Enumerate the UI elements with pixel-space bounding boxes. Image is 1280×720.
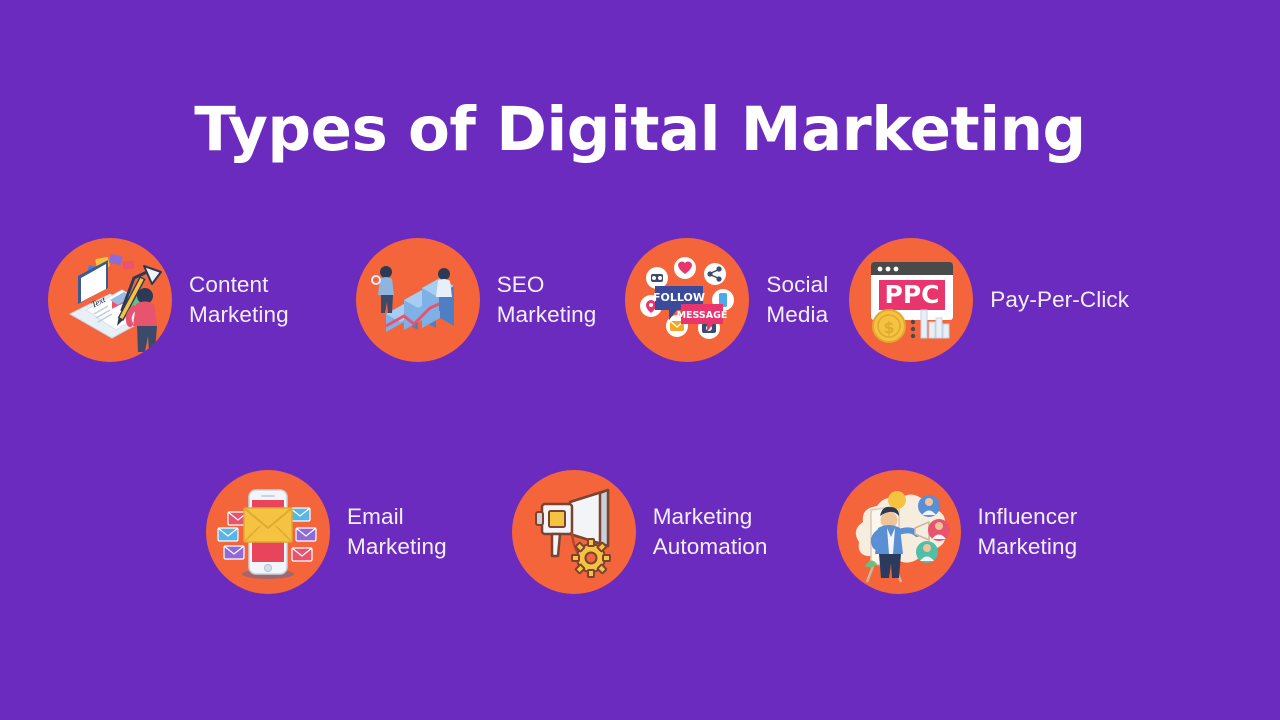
category-label-marketing-automation: Marketing Automation xyxy=(653,502,768,563)
category-label-influencer-marketing: Influencer Marketing xyxy=(978,502,1078,563)
category-item-pay-per-click[interactable]: PPC $ Pay-Per-Click xyxy=(849,238,1129,362)
category-item-marketing-automation[interactable]: Marketing Automation xyxy=(512,470,768,594)
content-marketing-icon: Text xyxy=(48,238,172,362)
email-marketing-icon xyxy=(206,470,330,594)
social-follow-text: FOLLOW xyxy=(653,291,705,304)
marketing-automation-icon xyxy=(512,470,636,594)
category-row-1: Text xyxy=(48,238,1129,362)
category-item-seo-marketing[interactable]: SEO Marketing xyxy=(356,238,597,362)
pay-per-click-icon: PPC $ xyxy=(849,238,973,362)
category-item-content-marketing[interactable]: Text xyxy=(48,238,289,362)
category-label-social-media: Social Media xyxy=(766,270,828,331)
social-message-text: MESSAGE xyxy=(677,310,728,321)
seo-marketing-icon xyxy=(356,238,480,362)
category-label-email-marketing: Email Marketing xyxy=(347,502,447,563)
category-item-social-media[interactable]: FOLLOW MESSAGE Social Media xyxy=(625,238,828,362)
category-item-influencer-marketing[interactable]: Influencer Marketing xyxy=(837,470,1078,594)
category-row-2: Email Marketing xyxy=(206,470,1077,594)
ppc-text: PPC xyxy=(885,280,940,309)
social-media-icon: FOLLOW MESSAGE xyxy=(625,238,749,362)
category-label-pay-per-click: Pay-Per-Click xyxy=(990,285,1129,316)
category-item-email-marketing[interactable]: Email Marketing xyxy=(206,470,447,594)
category-label-seo-marketing: SEO Marketing xyxy=(497,270,597,331)
page-title: Types of Digital Marketing xyxy=(0,96,1280,163)
category-label-content-marketing: Content Marketing xyxy=(189,270,289,331)
influencer-marketing-icon xyxy=(837,470,961,594)
svg-text:$: $ xyxy=(884,318,895,337)
